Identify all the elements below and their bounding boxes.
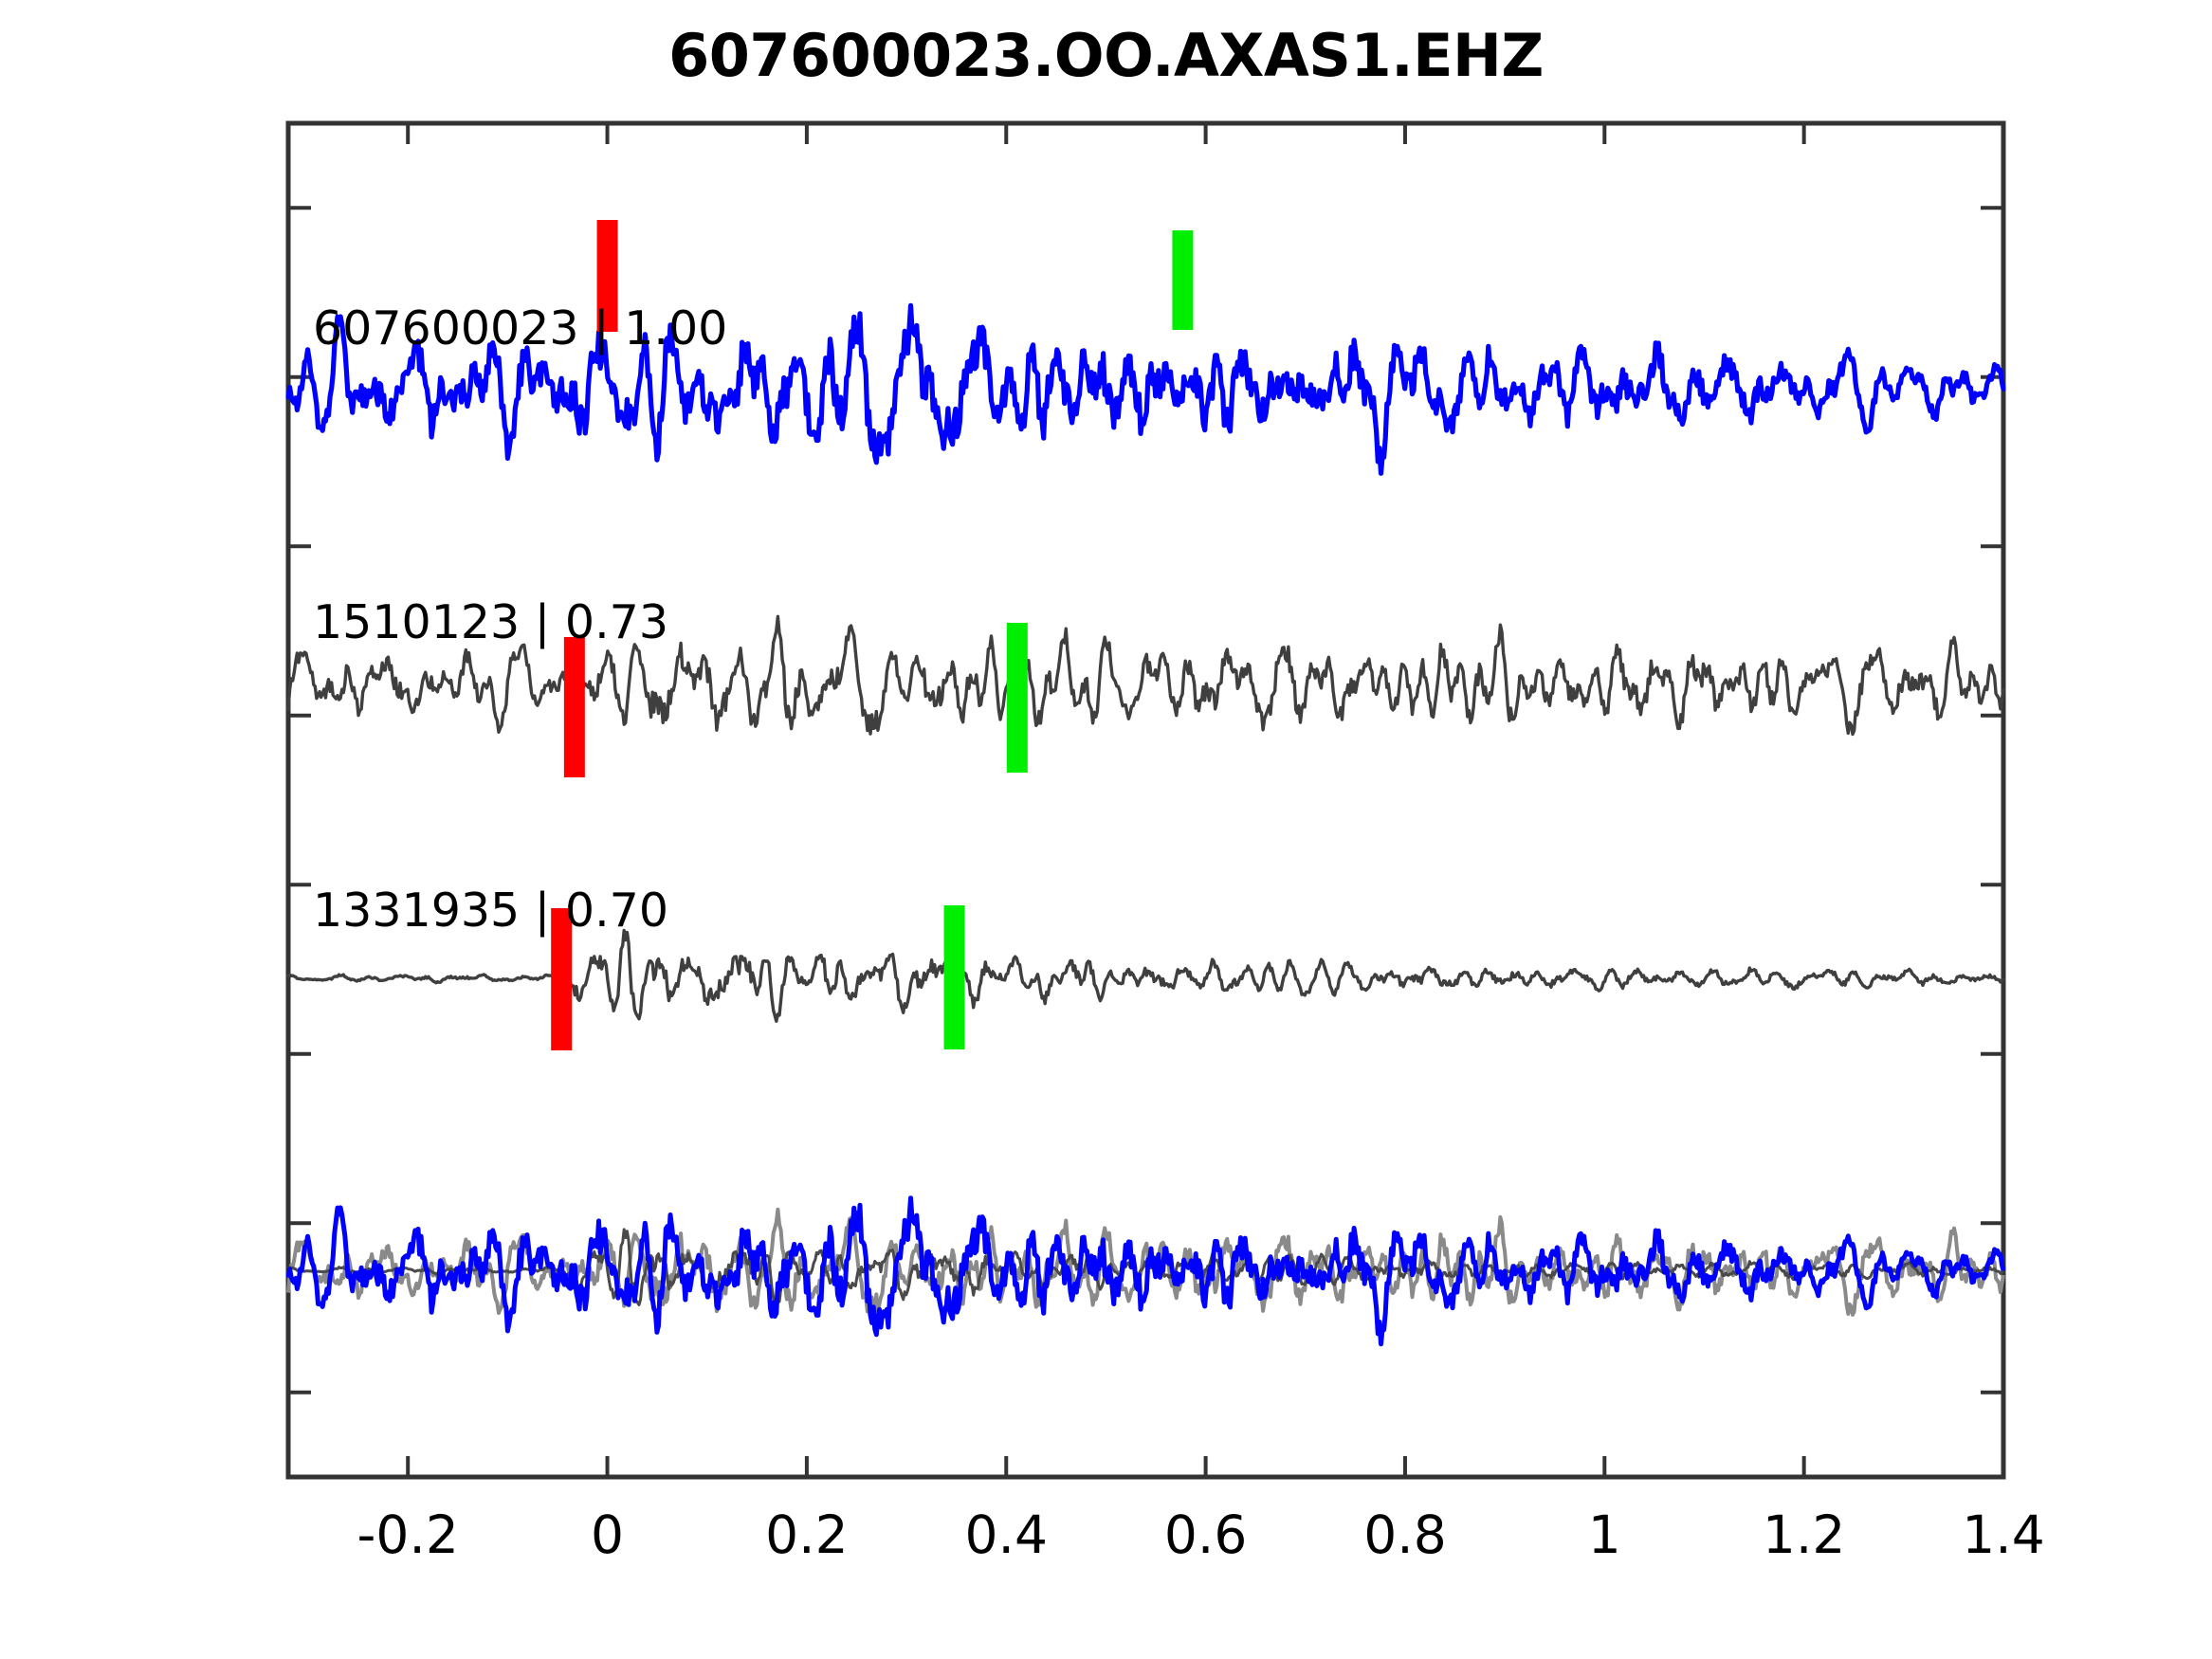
plot-area: 607600023 | 1.001510123 | 0.731331935 | … bbox=[0, 0, 2212, 1659]
x-tick-labels: -0.200.20.40.60.811.21.4 bbox=[357, 1504, 2045, 1565]
x-tick-label-8: 1.4 bbox=[1962, 1504, 2044, 1565]
pick-marker-s-1331935 bbox=[944, 905, 965, 1049]
pick-marker-p-1510123 bbox=[564, 637, 585, 777]
pick-marker-s-1510123 bbox=[1007, 623, 1028, 773]
x-tick-label-5: 0.8 bbox=[1363, 1504, 1446, 1565]
x-tick-label-1: 0 bbox=[591, 1504, 624, 1565]
trace-label-1331935: 1331935 | 0.70 bbox=[313, 884, 668, 938]
x-tick-label-6: 1 bbox=[1588, 1504, 1621, 1565]
x-tick-label-7: 1.2 bbox=[1763, 1504, 1845, 1565]
seismogram-svg: 607600023 | 1.001510123 | 0.731331935 | … bbox=[0, 0, 2212, 1659]
trace-label-607600023: 607600023 | 1.00 bbox=[313, 301, 727, 355]
pick-marker-s-607600023 bbox=[1172, 230, 1193, 330]
figure-canvas: 607600023.OO.AXAS1.EHZ 607600023 | 1.001… bbox=[0, 0, 2212, 1659]
waveform-trace-1331935 bbox=[288, 930, 2003, 1021]
x-tick-label-3: 0.4 bbox=[965, 1504, 1048, 1565]
x-tick-label-4: 0.6 bbox=[1164, 1504, 1247, 1565]
x-tick-label-0: -0.2 bbox=[357, 1504, 459, 1565]
x-tick-label-2: 0.2 bbox=[765, 1504, 848, 1565]
trace-label-1510123: 1510123 | 0.73 bbox=[313, 595, 668, 649]
waveform-traces bbox=[288, 305, 2003, 1343]
